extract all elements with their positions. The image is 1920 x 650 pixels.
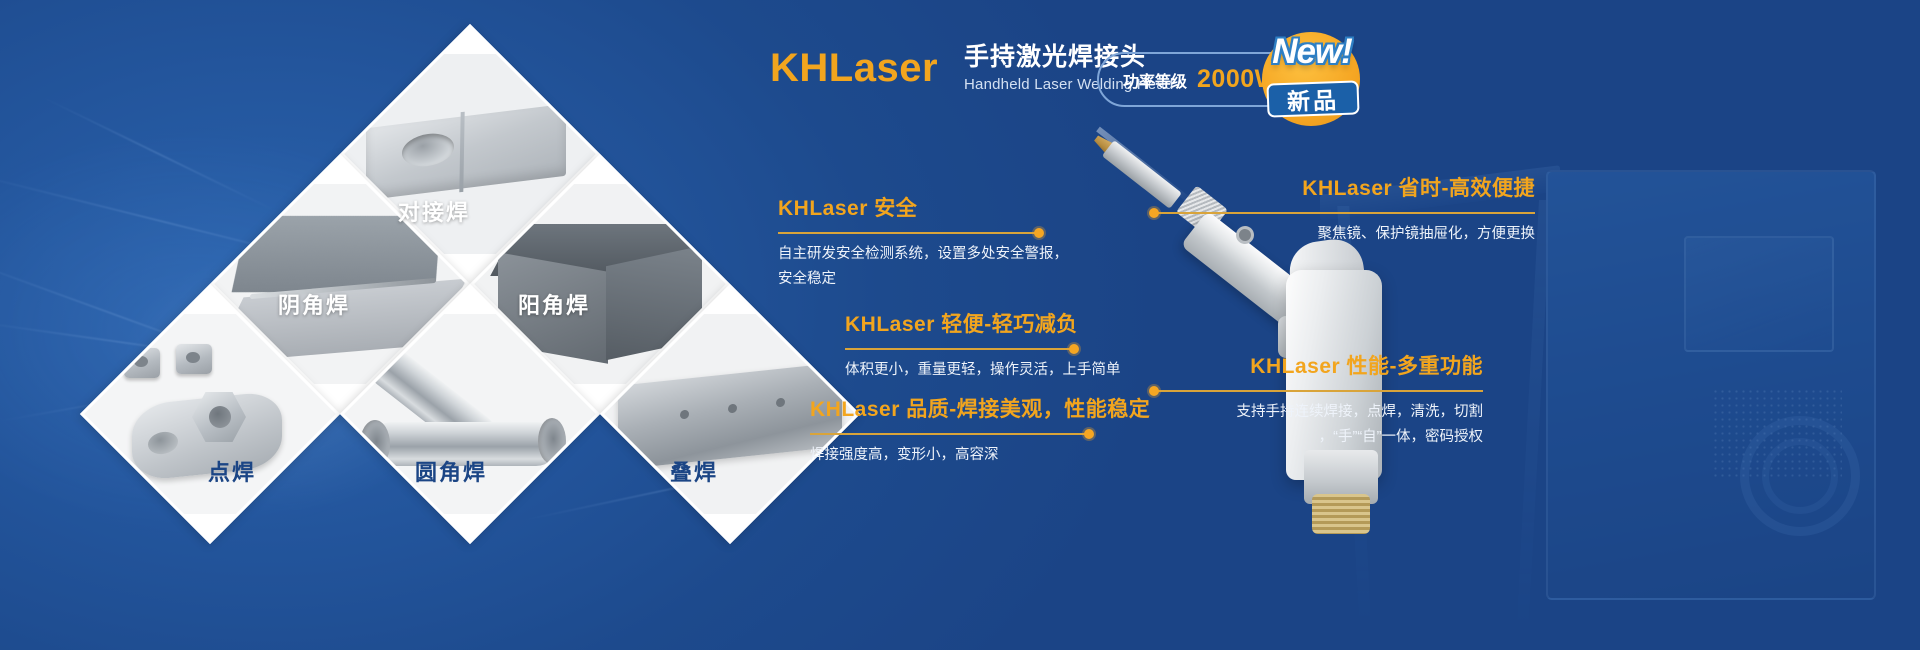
feature-dot-icon: [1084, 429, 1094, 439]
feature-callout-quality: KHLaser 品质-焊接美观，性能稳定 焊接强度高，变形小，高容深: [810, 393, 1090, 468]
machine-cable-coil-inner: [1762, 438, 1838, 514]
feature-desc-line1: 焊接强度高，变形小，高容深: [810, 443, 1090, 468]
new-badge-text-en: New!: [1254, 34, 1370, 69]
machine-control-panel: [1684, 236, 1834, 352]
weld-type-gallery: 对接焊 阴角焊 阳角焊 点焊 圆角焊 叠焊: [150, 40, 810, 600]
feature-title: KHLaser 省时-高效便捷: [1153, 172, 1535, 202]
feature-title: KHLaser 品质-焊接美观，性能稳定: [810, 393, 1090, 423]
machine-cabinet: [1546, 170, 1876, 600]
feature-rule: [845, 348, 1075, 350]
feature-desc-line2: ，“手”“自”一体，密码授权: [1153, 425, 1483, 450]
feature-desc-line2: 安全稳定: [778, 267, 1040, 292]
feature-callout-lightweight: KHLaser 轻便-轻巧减负 体积更小，重量更轻，操作灵活，上手简单: [845, 308, 1075, 383]
promo-banner: 对接焊 阴角焊 阳角焊 点焊 圆角焊 叠焊 KHLaser 手持激光焊接头 Ha…: [0, 0, 1920, 650]
feature-dot-icon: [1149, 208, 1159, 218]
feature-desc-line1: 支持手持连续焊接，点焊，清洗，切割: [1153, 400, 1483, 425]
feature-dot-icon: [1034, 228, 1044, 238]
brand-logo: KHLaser: [770, 48, 938, 88]
weld-type-label-butt: 对接焊: [398, 195, 470, 227]
feature-dot-icon: [1069, 344, 1079, 354]
feature-rule: [1153, 212, 1535, 214]
feature-rule: [810, 433, 1090, 435]
power-rating-label: 功率等级: [1123, 68, 1187, 92]
new-product-badge: New! 新品: [1258, 28, 1366, 132]
feature-callout-performance: KHLaser 性能-多重功能 支持手持连续焊接，点焊，清洗，切割 ，“手”“自…: [1153, 350, 1483, 449]
gun-brass-ring: [1312, 494, 1370, 534]
feature-callout-efficiency: KHLaser 省时-高效便捷 聚焦镜、保护镜抽屉化，方便更换: [1153, 172, 1535, 247]
feature-dot-icon: [1149, 386, 1159, 396]
feature-rule: [778, 232, 1040, 234]
feature-callout-safety: KHLaser 安全 自主研发安全检测系统，设置多处安全警报， 安全稳定: [778, 192, 1040, 291]
new-badge-text-cn: 新品: [1266, 80, 1359, 117]
feature-desc-line1: 体积更小，重量更轻，操作灵活，上手简单: [845, 358, 1075, 383]
feature-title: KHLaser 安全: [778, 192, 1040, 222]
weld-type-label-inside-corner: 阴角焊: [278, 288, 350, 320]
feature-desc-line1: 自主研发安全检测系统，设置多处安全警报，: [778, 242, 1040, 267]
feature-title: KHLaser 性能-多重功能: [1153, 350, 1483, 380]
feature-desc-line1: 聚焦镜、保护镜抽屉化，方便更换: [1153, 222, 1535, 247]
feature-title: KHLaser 轻便-轻巧减负: [845, 308, 1075, 338]
weld-type-label-spot: 点焊: [208, 455, 256, 487]
weld-type-label-outside-corner: 阳角焊: [518, 288, 590, 320]
feature-rule: [1153, 390, 1483, 392]
weld-type-label-lap: 叠焊: [670, 455, 718, 487]
weld-type-label-fillet: 圆角焊: [415, 455, 487, 487]
